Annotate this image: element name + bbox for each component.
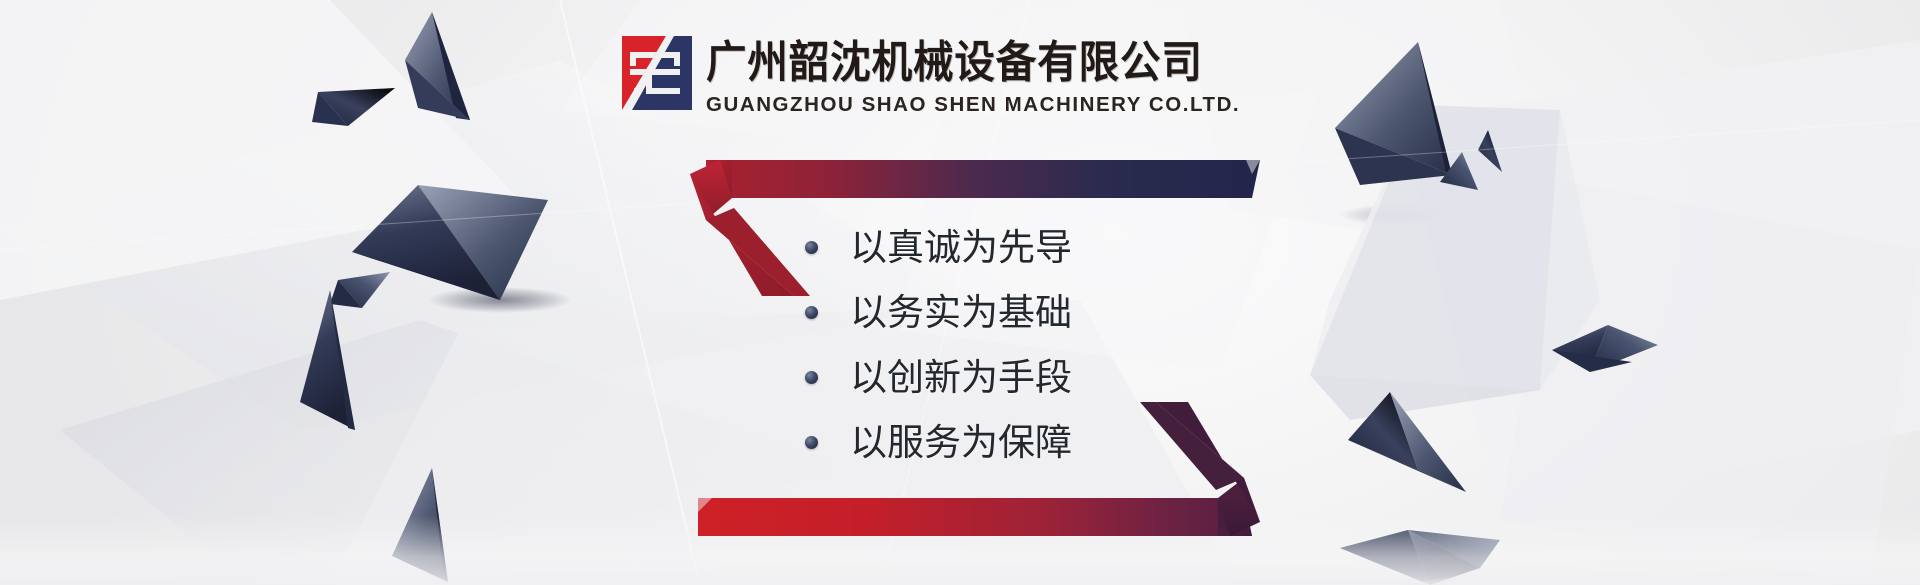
list-item: 以创新为手段 [805,345,1072,410]
company-logo-block: 广州韶沈机械设备有限公司 GUANGZHOU SHAO SHEN MACHINE… [622,36,1246,118]
bullet-icon [805,241,818,254]
slogan-list: 以真诚为先导 以务实为基础 以创新为手段 以服务为保障 [805,215,1072,475]
company-banner: 广州韶沈机械设备有限公司 GUANGZHOU SHAO SHEN MACHINE… [0,0,1920,585]
list-item: 以真诚为先导 [805,215,1072,280]
bullet-icon [805,306,818,319]
list-item: 以服务为保障 [805,410,1072,475]
company-name-en: GUANGZHOU SHAO SHEN MACHINERY CO.LTD. [706,92,1246,118]
slogan-text: 以务实为基础 [850,291,1072,335]
slogan-text: 以服务为保障 [850,421,1072,465]
bullet-icon [805,371,818,384]
list-item: 以务实为基础 [805,280,1072,345]
bullet-icon [805,436,818,449]
company-name-group: 广州韶沈机械设备有限公司 GUANGZHOU SHAO SHEN MACHINE… [706,36,1246,118]
slogan-text: 以真诚为先导 [850,226,1072,270]
company-name-cn: 广州韶沈机械设备有限公司 [706,38,1203,88]
slogan-text: 以创新为手段 [850,356,1072,400]
shaoshen-double-s-logo-icon [622,36,692,110]
